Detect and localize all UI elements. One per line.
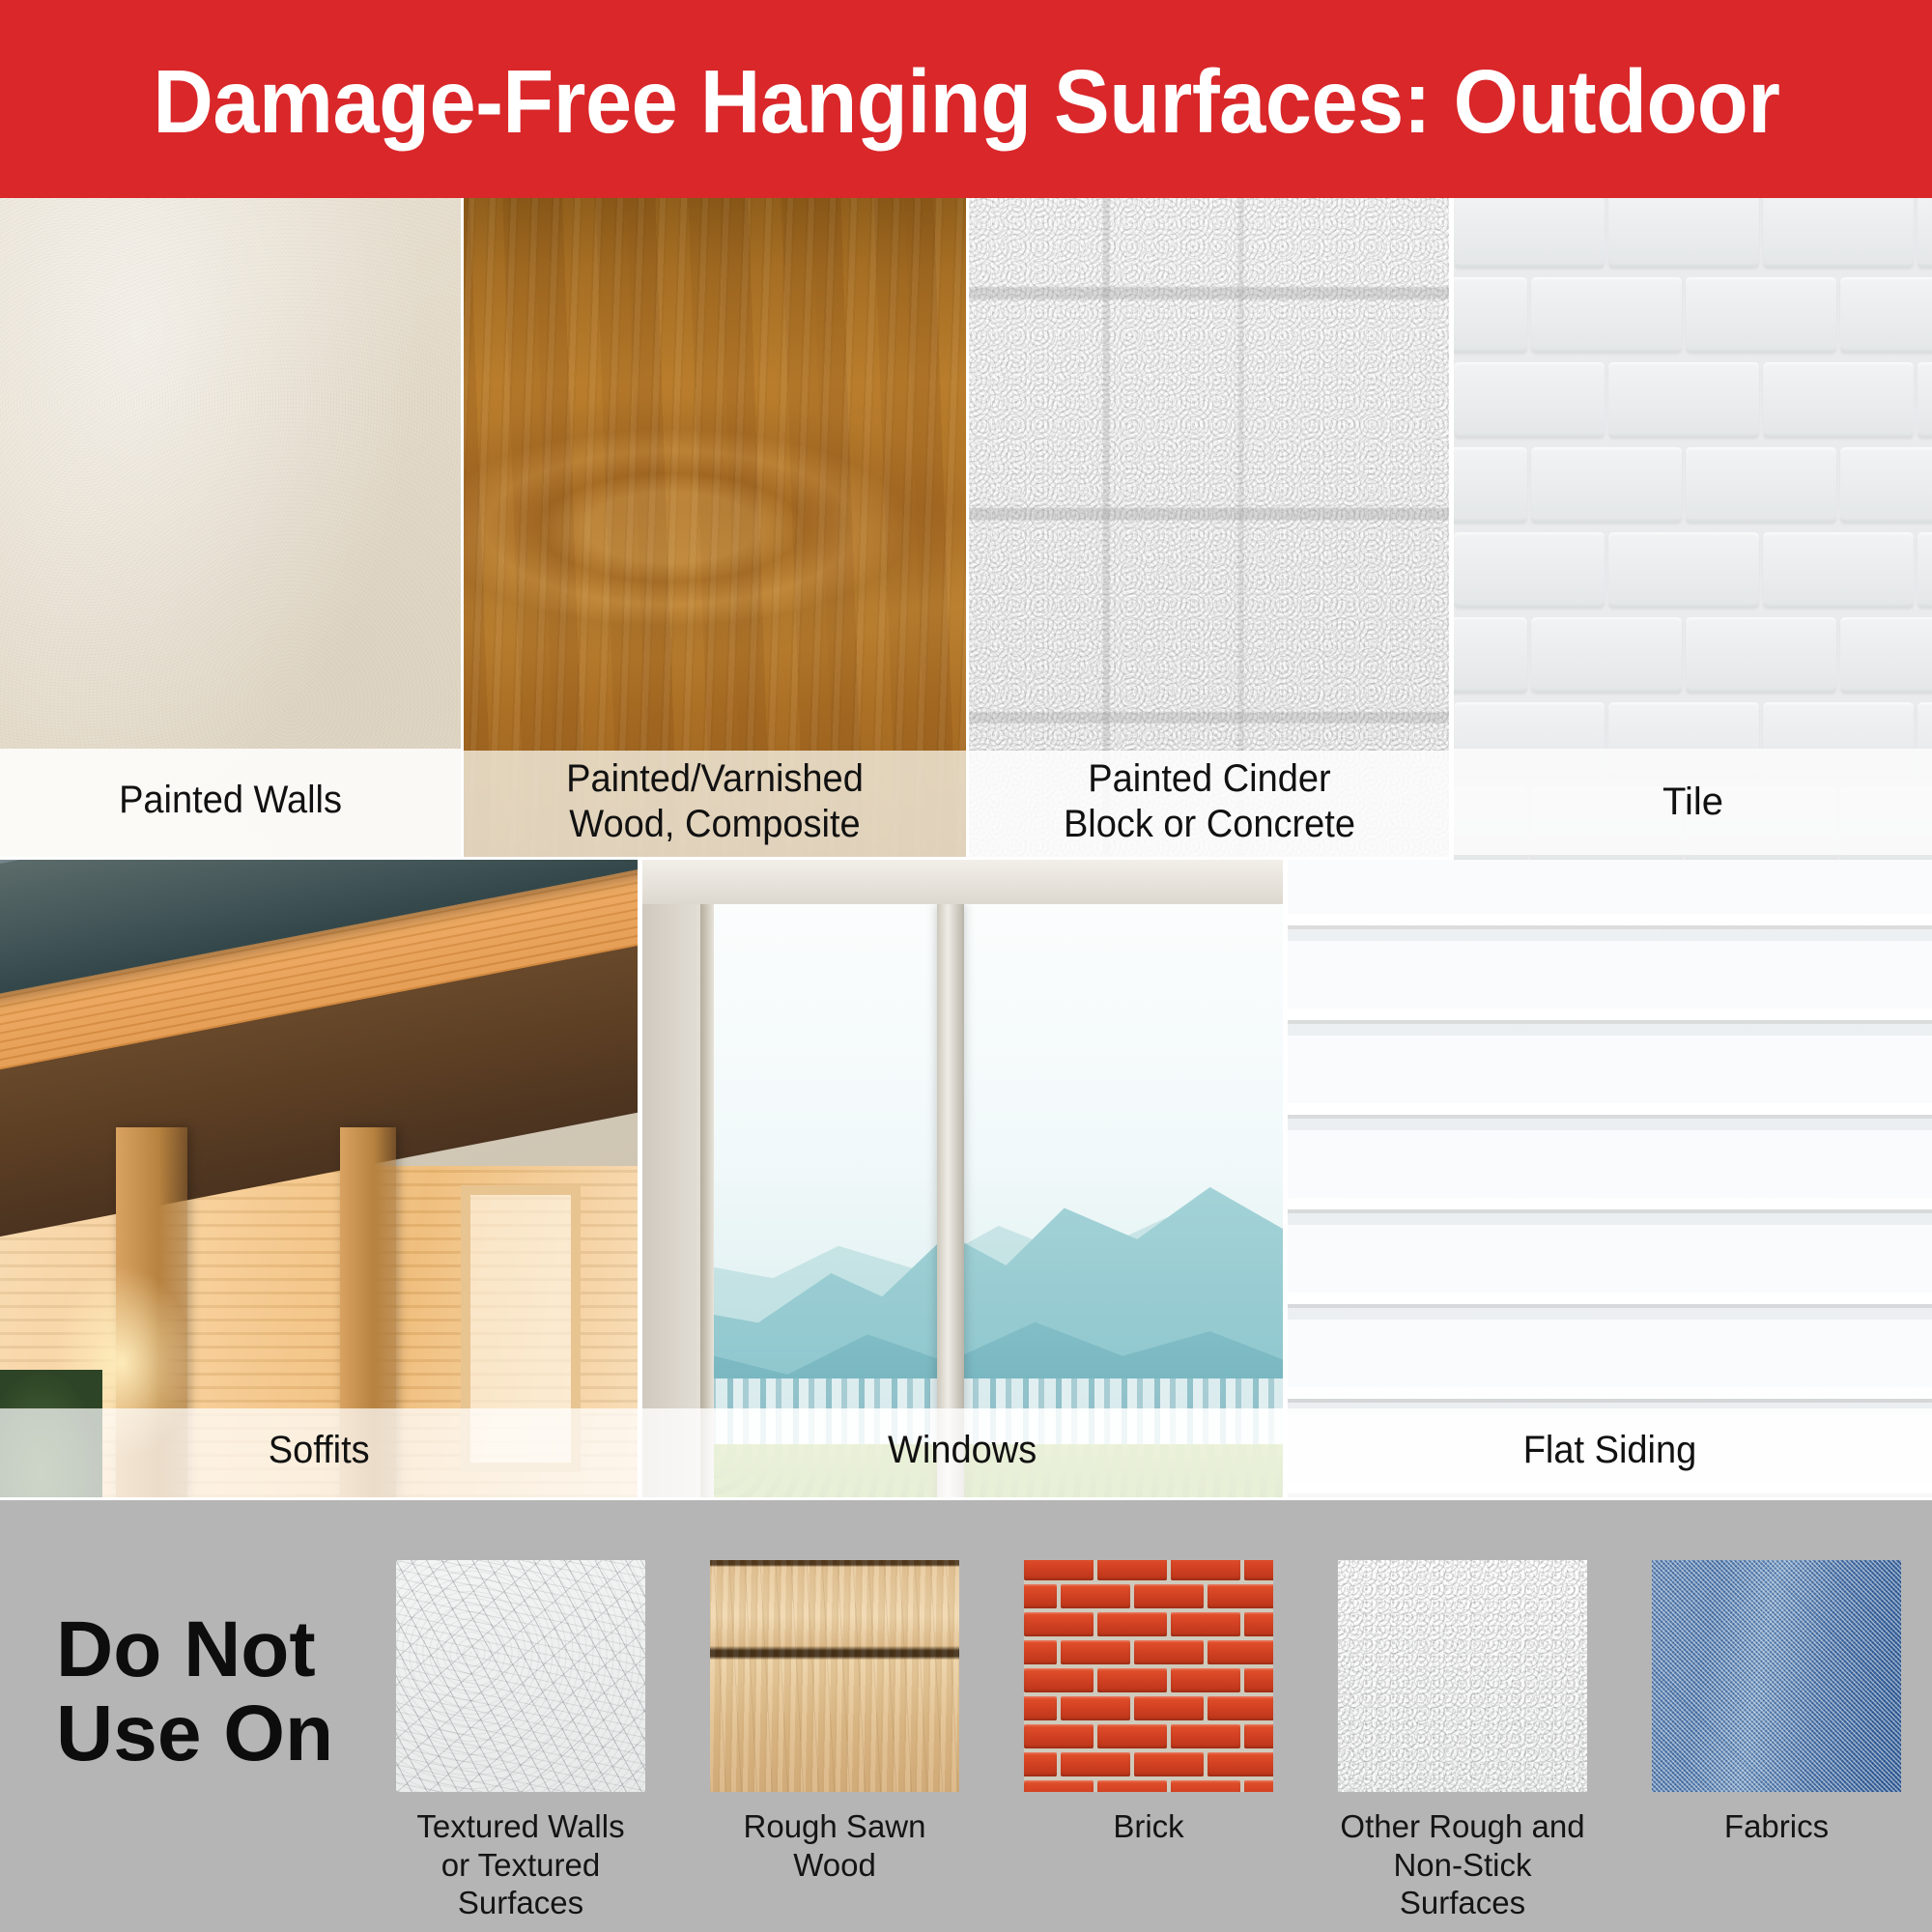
subway-tile-unit [1686,447,1836,523]
brick-row [1024,1780,1273,1792]
brick-unit [1024,1780,1094,1792]
brick-unit [1207,1584,1273,1608]
brick-row [1024,1584,1273,1613]
brick-unit [1207,1752,1273,1776]
subway-tile-unit [1918,532,1932,608]
do-not-use-label-other-rough-non-stick: Other Rough and Non-Stick Surfaces [1338,1807,1587,1922]
do-not-use-heading: Do Not Use On [56,1608,375,1776]
surface-label-painted-varnished-wood: Painted/Varnished Wood, Composite [464,751,966,857]
brick-unit [1207,1696,1273,1720]
brick-row [1024,1612,1273,1641]
rough-sawn-wood-texture [710,1560,959,1792]
brick-unit [1097,1780,1167,1792]
do-not-use-item-fabrics: Fabrics [1652,1560,1901,1846]
brick-unit [1134,1752,1204,1776]
do-not-use-item-other-rough-non-stick: Other Rough and Non-Stick Surfaces [1338,1560,1587,1922]
interior-wall [642,860,700,1497]
brick-row [1024,1696,1273,1725]
brick-unit [1024,1668,1094,1692]
brick-unit [1097,1668,1167,1692]
do-not-use-heading-line1: Do Not [56,1608,375,1692]
brick-row [1024,1724,1273,1753]
brick-unit [1244,1612,1273,1636]
do-not-use-item-rough-sawn-wood: Rough Sawn Wood [710,1560,959,1884]
surface-tile-soffits: Soffits [0,860,638,1497]
do-not-use-label-rough-sawn-wood: Rough Sawn Wood [710,1807,959,1884]
subway-tile-unit [1608,198,1759,268]
brick-unit [1171,1724,1240,1748]
brick-unit [1024,1724,1094,1748]
infographic-page: Damage-Free Hanging Surfaces: Outdoor Pa… [0,0,1932,1932]
brick-unit [1061,1696,1130,1720]
subway-tile-unit [1454,447,1527,523]
subway-tile-unit [1918,362,1932,438]
window-photo [642,860,1283,1497]
do-not-use-label-fabrics: Fabrics [1652,1807,1901,1846]
subway-tile-unit [1763,362,1914,438]
page-title: Damage-Free Hanging Surfaces: Outdoor [153,51,1779,147]
brick-unit [1171,1560,1240,1580]
subway-tile-unit [1918,198,1932,268]
surface-label-tile: Tile [1454,749,1932,855]
brick-row [1024,1640,1273,1669]
window-header [642,860,1283,904]
subway-tile-unit [1840,447,1932,523]
subway-tile-row [1454,358,1932,443]
surface-tile-windows: Windows [642,860,1283,1497]
brick-unit [1134,1584,1204,1608]
subway-tile-unit [1686,277,1836,353]
do-not-use-label-textured-walls: Textured Walls or Textured Surfaces [396,1807,645,1922]
brick-unit [1134,1696,1204,1720]
brick-unit [1171,1780,1240,1792]
textured-wall-texture [396,1560,645,1792]
brick-unit [1134,1640,1204,1664]
subway-tile-unit [1531,277,1682,353]
subway-tile-unit [1454,617,1527,693]
brick-unit [1207,1640,1273,1664]
surface-label-soffits: Soffits [0,1408,638,1497]
subway-tile-row [1454,528,1932,613]
do-not-use-heading-line2: Use On [56,1692,375,1776]
textured-wall-thumbnail [396,1560,645,1792]
surface-tile-painted-cinder-block: Painted Cinder Block or Concrete [969,198,1449,857]
subway-tile-unit [1763,198,1914,268]
brick-unit [1024,1584,1057,1608]
subway-tile-unit [1608,362,1759,438]
stucco-thumbnail [1338,1560,1587,1792]
brick-unit [1244,1668,1273,1692]
subway-tile-unit [1531,617,1682,693]
brick-unit [1171,1668,1240,1692]
brick-unit [1024,1640,1057,1664]
subway-tile-row [1454,613,1932,698]
flat-siding-texture [1288,860,1932,1497]
brick-unit [1024,1612,1094,1636]
stucco-texture [1338,1560,1587,1792]
brick-unit [1061,1584,1130,1608]
brick-thumbnail [1024,1560,1273,1792]
do-not-use-item-brick: Brick [1024,1560,1273,1846]
brick-unit [1244,1560,1273,1580]
subway-tile-unit [1454,532,1605,608]
subway-tile-unit [1840,277,1932,353]
subway-tile-unit [1608,532,1759,608]
brick-unit [1097,1612,1167,1636]
surface-tile-painted-walls: Painted Walls [0,198,461,857]
brick-unit [1171,1612,1240,1636]
denim-fabric-texture [1652,1560,1901,1792]
brick-unit [1061,1752,1130,1776]
subway-tile-unit [1454,198,1605,268]
subway-tile-row [1454,198,1932,273]
subway-tile-unit [1763,532,1914,608]
brick-row [1024,1668,1273,1697]
brick-unit [1244,1780,1273,1792]
subway-tile-row [1454,273,1932,358]
subway-tile-unit [1840,617,1932,693]
title-banner: Damage-Free Hanging Surfaces: Outdoor [0,0,1932,198]
soffit-photo [0,860,638,1497]
subway-tile-unit [1454,277,1527,353]
do-not-use-item-textured-walls: Textured Walls or Textured Surfaces [396,1560,645,1922]
brick-unit [1024,1696,1057,1720]
brick-row [1024,1560,1273,1585]
subway-tile-unit [1531,447,1682,523]
brick-unit [1024,1752,1057,1776]
subway-tile-unit [1686,617,1836,693]
brick-texture [1024,1560,1273,1792]
surface-tile-flat-siding: Flat Siding [1288,860,1932,1497]
brick-unit [1061,1640,1130,1664]
fabric-thumbnail [1652,1560,1901,1792]
subway-tile-row [1454,443,1932,528]
do-not-use-section: Do Not Use On Textured Walls or Textured… [0,1500,1932,1932]
rough-sawn-wood-thumbnail [710,1560,959,1792]
brick-unit [1244,1724,1273,1748]
surface-label-flat-siding: Flat Siding [1288,1408,1932,1497]
surface-label-painted-walls: Painted Walls [0,749,461,857]
brick-unit [1097,1724,1167,1748]
subway-tile-unit [1454,362,1605,438]
surface-tile-painted-varnished-wood: Painted/Varnished Wood, Composite [464,198,966,857]
brick-unit [1024,1560,1094,1580]
surface-label-windows: Windows [642,1408,1283,1497]
surface-label-painted-cinder-block: Painted Cinder Block or Concrete [969,751,1449,857]
brick-row [1024,1752,1273,1781]
brick-unit [1097,1560,1167,1580]
do-not-use-label-brick: Brick [1024,1807,1273,1846]
